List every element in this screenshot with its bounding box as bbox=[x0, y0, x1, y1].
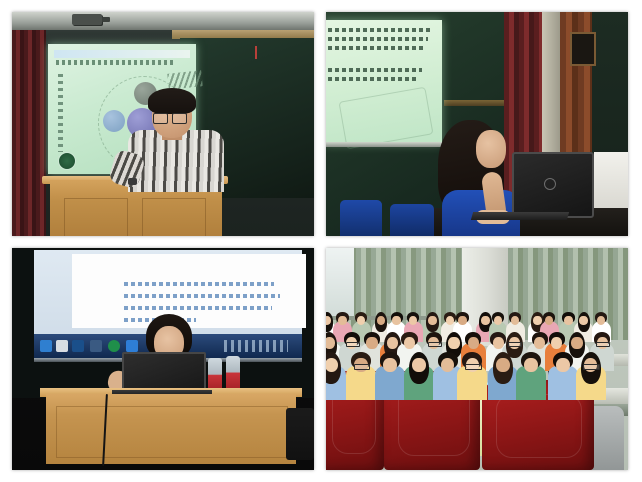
taskbar-icon bbox=[108, 340, 120, 352]
slide-text-line bbox=[328, 46, 424, 50]
ceiling-projector bbox=[72, 14, 102, 25]
eyeglasses-icon bbox=[583, 364, 599, 370]
student-face bbox=[564, 316, 572, 325]
taskbar-icon bbox=[90, 340, 102, 352]
desk-panel-seam bbox=[56, 406, 288, 458]
scene-presenter-at-desk bbox=[12, 248, 314, 470]
laptop-keyboard bbox=[471, 212, 569, 220]
system-tray bbox=[224, 340, 288, 352]
speaker-eyeglasses bbox=[153, 113, 187, 122]
taskbar-icon bbox=[126, 340, 138, 352]
podium-panel-right bbox=[142, 198, 206, 236]
slide-text-line bbox=[328, 28, 432, 32]
scene-student-audience bbox=[326, 248, 628, 470]
slide-diagram-watermark bbox=[339, 87, 434, 150]
projection-screen bbox=[326, 20, 442, 144]
blue-chair bbox=[340, 200, 382, 236]
slide-title-text bbox=[56, 60, 176, 65]
taskbar-icon bbox=[56, 340, 68, 352]
photo-bottom-left[interactable]: Presenter in a light blue top standing b… bbox=[12, 248, 314, 470]
blue-chair bbox=[390, 204, 434, 236]
student-face bbox=[458, 316, 466, 325]
screen-bottom-rail bbox=[326, 142, 442, 147]
student-face bbox=[326, 337, 335, 349]
student-face bbox=[448, 337, 459, 349]
scene-speaker-at-podium bbox=[12, 12, 314, 236]
student-face bbox=[597, 316, 605, 325]
chair bbox=[286, 408, 314, 460]
chalk-mark bbox=[255, 46, 257, 59]
projected-document bbox=[72, 254, 306, 328]
student-face bbox=[412, 358, 426, 373]
student-face bbox=[556, 358, 570, 373]
red-curtain bbox=[12, 30, 46, 236]
student bbox=[581, 352, 611, 403]
eyeglasses-icon bbox=[354, 364, 370, 370]
student-face bbox=[494, 316, 502, 325]
eyeglasses-icon bbox=[596, 342, 610, 347]
photo-top-right[interactable]: Young woman with long dark hair in a blu… bbox=[326, 12, 628, 236]
student-face bbox=[534, 337, 545, 349]
slide-text-line bbox=[328, 77, 416, 81]
student-face bbox=[468, 337, 479, 349]
student-face bbox=[524, 358, 538, 373]
student-face bbox=[409, 316, 417, 325]
document-text-line bbox=[124, 306, 272, 310]
podium-panel-left bbox=[64, 198, 128, 236]
photo-collage: Male presenter in a vertically striped s… bbox=[0, 0, 642, 482]
student bbox=[521, 352, 551, 403]
student-face bbox=[571, 337, 582, 349]
student-face bbox=[481, 316, 489, 325]
seat-seam bbox=[496, 394, 582, 458]
student-face bbox=[428, 316, 436, 325]
ceiling bbox=[12, 12, 314, 30]
photo-bottom-right[interactable]: Tiered lecture hall filled with seated s… bbox=[326, 248, 628, 470]
student-face bbox=[383, 358, 397, 373]
slide-emblem-logo bbox=[58, 152, 76, 170]
eyeglasses-icon bbox=[346, 342, 360, 347]
student-face bbox=[496, 358, 510, 373]
student-face bbox=[366, 337, 377, 349]
taskbar-icon bbox=[72, 340, 84, 352]
slide-circle-blue bbox=[103, 110, 125, 132]
eyeglasses-icon bbox=[428, 342, 442, 347]
window bbox=[326, 248, 354, 318]
scene-woman-at-laptop bbox=[326, 12, 628, 236]
student-face bbox=[404, 337, 415, 349]
speaker-wristwatch bbox=[128, 178, 137, 185]
slide-vertical-text bbox=[58, 74, 63, 152]
wall-picture-frame bbox=[570, 32, 596, 66]
slide-text-line bbox=[328, 68, 422, 72]
eyeglasses-icon bbox=[465, 364, 481, 370]
student-face bbox=[392, 316, 400, 325]
wall-paper-notice bbox=[594, 152, 628, 212]
student-face bbox=[357, 316, 365, 325]
speaker-hair bbox=[148, 88, 196, 114]
student-face bbox=[579, 316, 587, 325]
student-face bbox=[511, 316, 519, 325]
slide-text-line bbox=[328, 37, 428, 41]
eyeglasses-icon bbox=[508, 342, 522, 347]
student-face bbox=[545, 316, 553, 325]
taskbar-icon bbox=[40, 340, 52, 352]
document-text-line bbox=[124, 294, 280, 298]
student-face bbox=[551, 337, 562, 349]
student-face bbox=[338, 316, 346, 325]
slide-title-bar bbox=[54, 50, 190, 58]
student-face bbox=[377, 316, 385, 325]
student-face bbox=[326, 316, 331, 325]
document-text-line bbox=[124, 282, 274, 286]
photo-top-left[interactable]: Male presenter in a vertically striped s… bbox=[12, 12, 314, 236]
woman-face bbox=[476, 130, 506, 168]
student-face bbox=[533, 316, 541, 325]
student-face bbox=[446, 316, 454, 325]
laptop-logo bbox=[544, 178, 556, 190]
student-face bbox=[387, 337, 398, 349]
